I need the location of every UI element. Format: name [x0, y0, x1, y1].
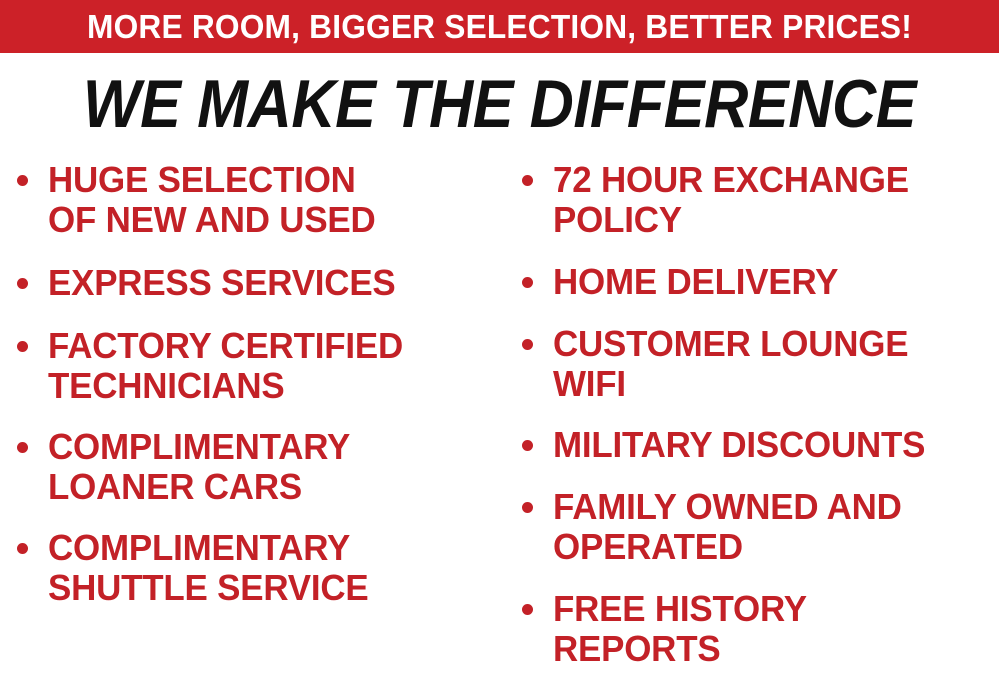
bullet-dot-icon — [17, 543, 28, 554]
list-item: HOME DELIVERY — [519, 262, 999, 302]
list-item-label: EXPRESS SERVICES — [48, 263, 481, 303]
promo-banner-text: MORE ROOM, BIGGER SELECTION, BETTER PRIC… — [20, 0, 979, 53]
list-item: 72 HOUR EXCHANGE POLICY — [519, 160, 999, 240]
bullet-dot-icon — [522, 277, 533, 288]
list-item: FAMILY OWNED AND OPERATED — [519, 487, 999, 567]
list-item: MILITARY DISCOUNTS — [519, 425, 999, 465]
bullet-dot-icon — [522, 604, 533, 615]
advertisement-banner: MORE ROOM, BIGGER SELECTION, BETTER PRIC… — [0, 0, 999, 692]
list-item: EXPRESS SERVICES — [14, 263, 494, 303]
list-item-label: COMPLIMENTARY LOANER CARS — [48, 427, 481, 507]
list-item-label: FACTORY CERTIFIED TECHNICIANS — [48, 326, 481, 406]
list-item-label: FREE HISTORY REPORTS — [553, 589, 986, 669]
list-item-label: FAMILY OWNED AND OPERATED — [553, 487, 986, 567]
promo-banner: MORE ROOM, BIGGER SELECTION, BETTER PRIC… — [0, 0, 999, 53]
benefits-columns: HUGE SELECTION OF NEW AND USED EXPRESS S… — [0, 160, 999, 692]
bullet-dot-icon — [522, 339, 533, 350]
bullet-dot-icon — [522, 440, 533, 451]
bullet-dot-icon — [17, 175, 28, 186]
benefits-column-left: HUGE SELECTION OF NEW AND USED EXPRESS S… — [14, 160, 494, 608]
bullet-dot-icon — [522, 502, 533, 513]
bullet-dot-icon — [17, 278, 28, 289]
list-item: FREE HISTORY REPORTS — [519, 589, 999, 669]
bullet-dot-icon — [17, 341, 28, 352]
list-item: COMPLIMENTARY LOANER CARS — [14, 427, 494, 507]
page-title: WE MAKE THE DIFFERENCE — [50, 66, 949, 142]
benefits-column-right: 72 HOUR EXCHANGE POLICY HOME DELIVERY CU… — [519, 160, 999, 669]
list-item: CUSTOMER LOUNGE WIFI — [519, 324, 999, 404]
list-item-label: MILITARY DISCOUNTS — [553, 425, 986, 465]
list-item: FACTORY CERTIFIED TECHNICIANS — [14, 326, 494, 406]
list-item-label: HOME DELIVERY — [553, 262, 986, 302]
bullet-dot-icon — [522, 175, 533, 186]
list-item-label: CUSTOMER LOUNGE WIFI — [553, 324, 986, 404]
list-item: COMPLIMENTARY SHUTTLE SERVICE — [14, 528, 494, 608]
bullet-dot-icon — [17, 442, 28, 453]
list-item: HUGE SELECTION OF NEW AND USED — [14, 160, 494, 240]
list-item-label: HUGE SELECTION OF NEW AND USED — [48, 160, 481, 240]
list-item-label: COMPLIMENTARY SHUTTLE SERVICE — [48, 528, 481, 608]
list-item-label: 72 HOUR EXCHANGE POLICY — [553, 160, 986, 240]
